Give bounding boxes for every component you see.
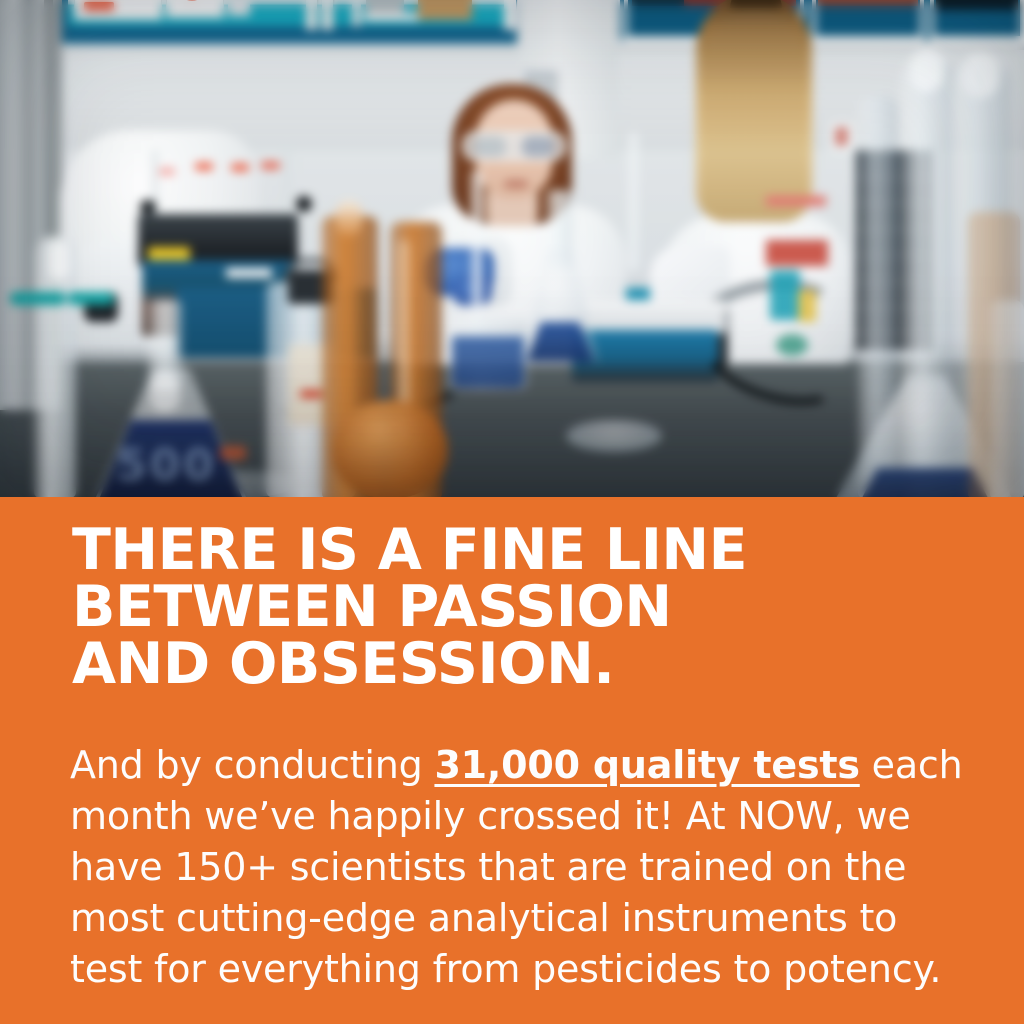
laboratory-photo: 500: [0, 0, 1024, 497]
body-line-2: month we’ve happily crossed it! At NOW, …: [70, 791, 960, 842]
headline-line-1: THERE IS A FINE LINE: [72, 522, 972, 579]
page-headline: THERE IS A FINE LINE BETWEEN PASSION AND…: [72, 522, 972, 693]
headline-line-2: BETWEEN PASSION: [72, 579, 972, 636]
body-copy: And by conducting 31,000 quality tests e…: [70, 740, 960, 995]
body-line-1: And by conducting 31,000 quality tests e…: [70, 740, 960, 791]
photo-vignette: [0, 0, 1024, 497]
body-line-4: most cutting-edge analytical instruments…: [70, 893, 960, 944]
body-line-1-after: each: [860, 743, 963, 787]
poster-canvas: 500 THERE IS A FINE LINE BETWEEN PASSION…: [0, 0, 1024, 1024]
emphasis-quality-tests: 31,000 quality tests: [434, 743, 859, 787]
body-line-5: test for everything from pesticides to p…: [70, 944, 960, 995]
body-line-3: have 150+ scientists that are trained on…: [70, 842, 960, 893]
body-line-1-before: And by conducting: [70, 743, 434, 787]
headline-line-3: AND OBSESSION.: [72, 636, 972, 693]
